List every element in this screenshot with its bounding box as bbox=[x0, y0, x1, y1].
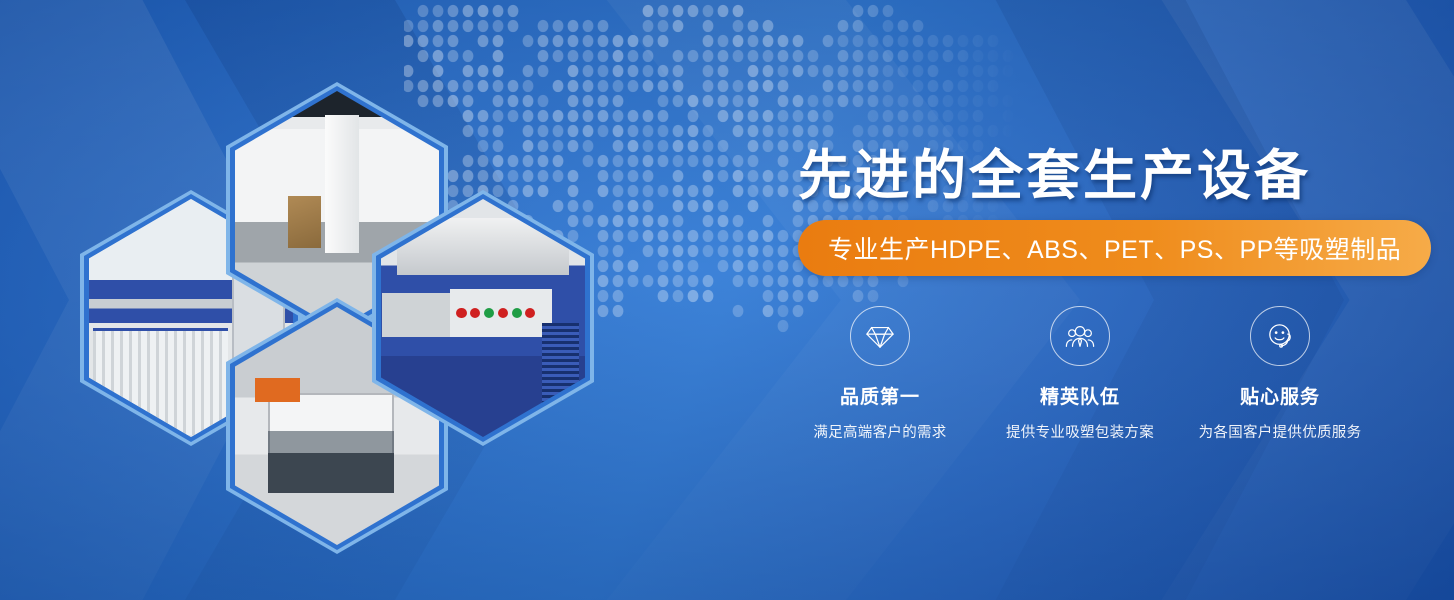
tagline-text: 专业生产HDPE、ABS、PET、PS、PP等吸塑制品 bbox=[828, 230, 1401, 266]
feature-item-service: 贴心服务 为各国客户提供优质服务 bbox=[1180, 306, 1380, 442]
hexagon-photo-collage bbox=[58, 74, 678, 534]
feature-item-quality: 品质第一 满足高端客户的需求 bbox=[780, 306, 980, 442]
feature-subtitle: 提供专业吸塑包装方案 bbox=[980, 421, 1180, 442]
feature-list: 品质第一 满足高端客户的需求 精英队伍 提供专业吸塑包装方案 bbox=[780, 306, 1440, 442]
feature-title: 贴心服务 bbox=[1180, 382, 1380, 409]
banner-headline: 先进的全套生产设备 bbox=[798, 131, 1311, 210]
hex-photo-right bbox=[372, 190, 594, 446]
smiley-headset-icon bbox=[1250, 306, 1310, 366]
feature-title: 品质第一 bbox=[780, 382, 980, 409]
banner-content: 先进的全套生产设备 专业生产HDPE、ABS、PET、PS、PP等吸塑制品 品质… bbox=[780, 0, 1440, 600]
team-icon bbox=[1050, 306, 1110, 366]
promotional-banner: 先进的全套生产设备 专业生产HDPE、ABS、PET、PS、PP等吸塑制品 品质… bbox=[0, 0, 1454, 600]
control-panel-knobs bbox=[456, 297, 548, 330]
diamond-icon bbox=[850, 306, 910, 366]
tagline-pill: 专业生产HDPE、ABS、PET、PS、PP等吸塑制品 bbox=[798, 220, 1431, 276]
feature-item-team: 精英队伍 提供专业吸塑包装方案 bbox=[980, 306, 1180, 442]
feature-title: 精英队伍 bbox=[980, 382, 1180, 409]
feature-subtitle: 满足高端客户的需求 bbox=[780, 421, 980, 442]
feature-subtitle: 为各国客户提供优质服务 bbox=[1180, 421, 1380, 442]
